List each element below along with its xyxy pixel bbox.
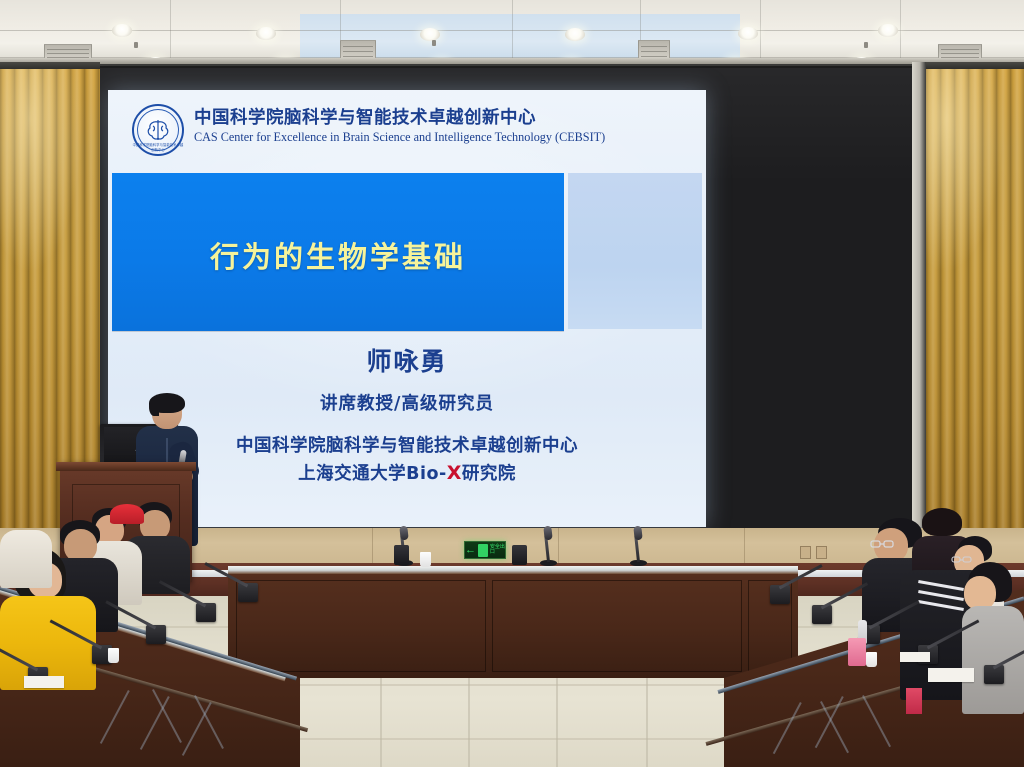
gooseneck-conference-microphone[interactable] xyxy=(540,520,557,566)
gooseneck-conference-microphone[interactable] xyxy=(984,630,1004,684)
wall-edge xyxy=(912,62,926,534)
gooseneck-conference-microphone[interactable] xyxy=(238,558,258,602)
ceiling-downlight xyxy=(565,28,585,41)
slide-title-band: 行为的生物学基础 xyxy=(112,173,564,331)
wall-outlet[interactable] xyxy=(816,546,827,559)
curtain-right xyxy=(912,62,1024,534)
red-card-item[interactable] xyxy=(906,688,922,714)
gooseneck-conference-microphone[interactable] xyxy=(196,574,216,622)
affiliation-2-pre: 上海交通大学Bio- xyxy=(298,464,447,484)
slide-header: 中国科学院脑科学与智能技术卓越创新中心 中国科学院脑科学与智能技术卓越创新中心 … xyxy=(108,90,706,172)
sprinkler-head-icon xyxy=(864,42,868,48)
wall-outlet[interactable] xyxy=(800,546,811,559)
running-person-icon xyxy=(478,544,488,557)
slide-org-en: CAS Center for Excellence in Brain Scien… xyxy=(194,130,605,145)
slide-side-block xyxy=(568,173,702,329)
ceiling-downlight xyxy=(256,27,276,40)
ceiling-air-vent xyxy=(340,40,376,60)
document-paper[interactable] xyxy=(928,668,974,682)
cebsit-emblem-icon: 中国科学院脑科学与智能技术卓越创新中心 xyxy=(132,104,184,156)
affiliation-2-x: X xyxy=(447,462,462,484)
exit-arrow-icon: ← xyxy=(465,545,476,556)
conference-table-back xyxy=(228,566,798,678)
paper-cup[interactable] xyxy=(866,652,877,667)
emblem-ring-text: 中国科学院脑科学与智能技术卓越创新中心 xyxy=(132,142,184,152)
ceiling-downlight xyxy=(738,27,758,40)
microphone-base-unit[interactable] xyxy=(394,545,409,565)
paper-cup[interactable] xyxy=(420,552,431,567)
conference-room-scene: 中国科学院脑科学与智能技术卓越创新中心 中国科学院脑科学与智能技术卓越创新中心 … xyxy=(0,0,1024,767)
paper-cup[interactable] xyxy=(108,648,119,663)
gooseneck-conference-microphone[interactable] xyxy=(770,560,790,604)
microphone-base-unit[interactable] xyxy=(512,545,527,565)
eyeglasses-icon xyxy=(870,538,896,550)
slide-org-cn: 中国科学院脑科学与智能技术卓越创新中心 xyxy=(194,104,536,129)
document-paper[interactable] xyxy=(900,652,930,662)
slide-title: 行为的生物学基础 xyxy=(112,234,564,276)
gooseneck-conference-microphone[interactable] xyxy=(630,520,647,566)
ceiling-downlight xyxy=(420,28,440,41)
wall-top-trim xyxy=(0,58,1024,64)
exit-label: 安全出口 xyxy=(490,545,505,556)
ceiling-air-vent xyxy=(638,40,670,60)
affiliation-2-post: 研究院 xyxy=(462,464,516,484)
ceiling-downlight xyxy=(112,24,132,37)
sprinkler-head-icon xyxy=(432,40,436,46)
document-paper[interactable] xyxy=(24,676,64,688)
ceiling xyxy=(0,0,1024,62)
ceiling-downlight xyxy=(878,24,898,37)
sprinkler-head-icon xyxy=(134,42,138,48)
pink-pouch[interactable] xyxy=(848,638,866,666)
emergency-exit-sign: ← 安全出口 xyxy=(464,541,506,559)
gooseneck-conference-microphone[interactable] xyxy=(146,594,166,644)
attendee-light-top-left xyxy=(0,516,52,586)
gooseneck-conference-microphone[interactable] xyxy=(812,576,832,624)
slide-speaker-name: 师咏勇 xyxy=(108,342,706,378)
